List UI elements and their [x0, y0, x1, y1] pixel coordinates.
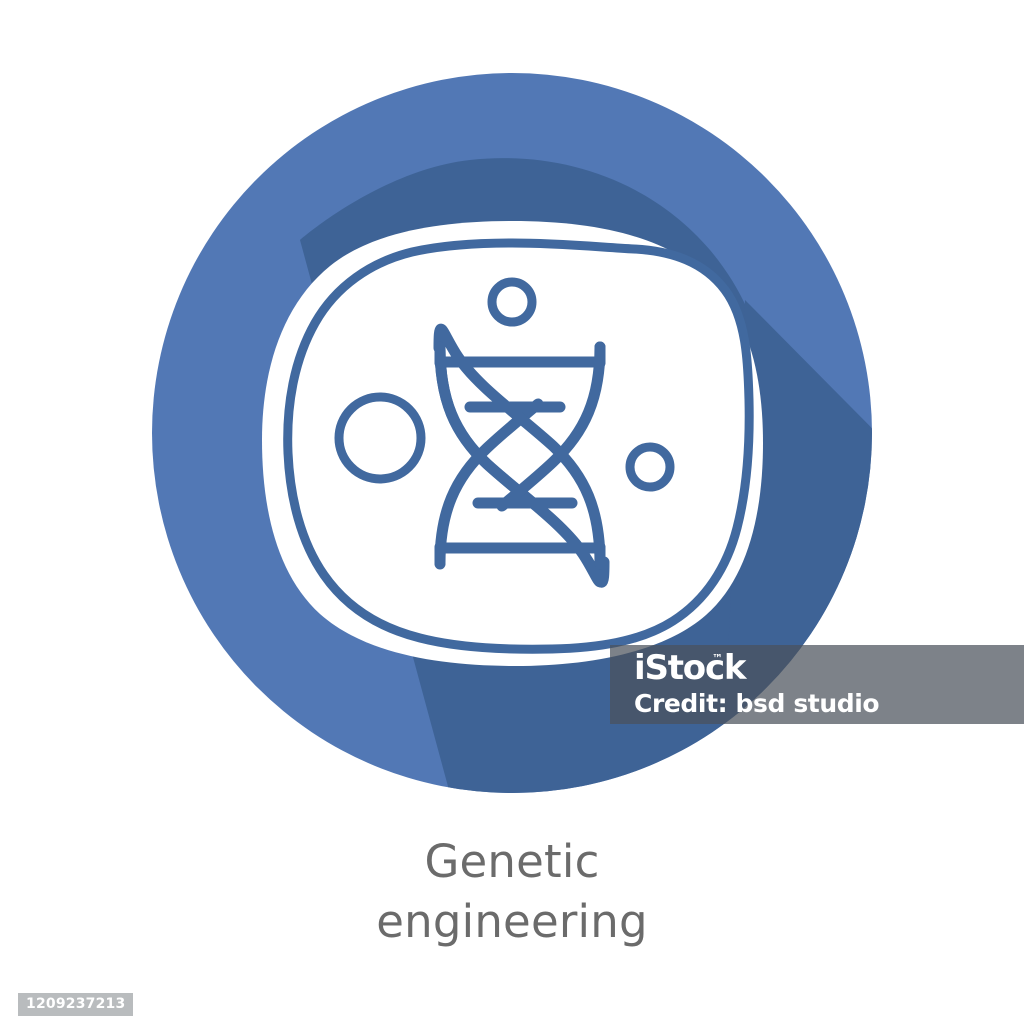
istock-watermark-band: iStock Credit: bsd studio — [610, 645, 1024, 724]
caption-text: Genetic engineering — [0, 832, 1024, 952]
cell-glyph — [262, 221, 763, 666]
istock-logo: iStock — [634, 648, 745, 688]
trademark-icon: ™ — [712, 652, 723, 665]
istock-credit: Credit: bsd studio — [634, 689, 879, 718]
image-canvas: Genetic engineering iStock Credit: bsd s… — [0, 0, 1024, 1024]
asset-id-chip: 1209237213 — [18, 993, 133, 1016]
